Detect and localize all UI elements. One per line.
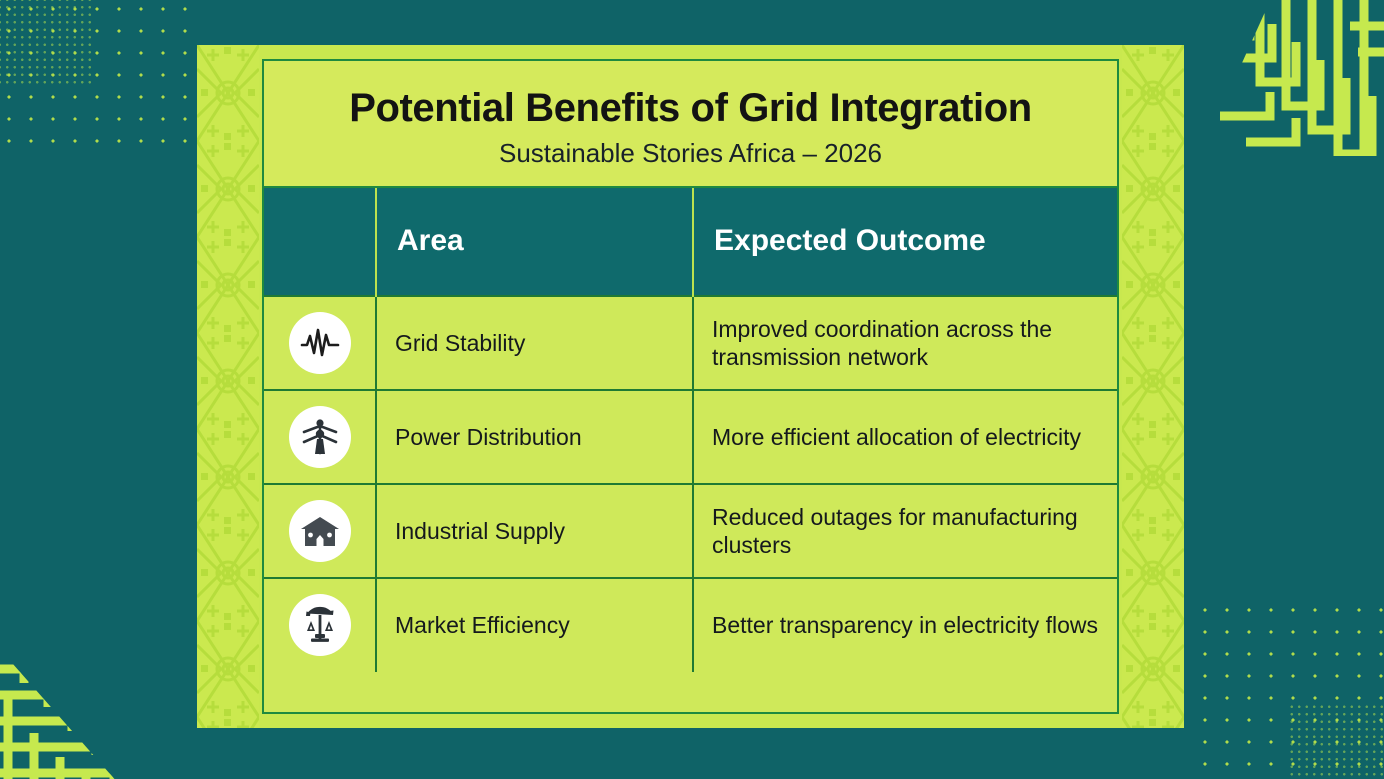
waveform-icon [289, 312, 351, 374]
maze-pattern-bottom-left [0, 603, 194, 779]
title-block: Potential Benefits of Grid Integration S… [264, 61, 1117, 188]
row-icon-cell [264, 296, 376, 390]
row-icon-cell [264, 484, 376, 578]
table-header-row: Area Expected Outcome [264, 188, 1117, 296]
content-card: Potential Benefits of Grid Integration S… [197, 45, 1184, 728]
row-outcome-cell: More efficient allocation of electricity [693, 390, 1117, 484]
table-body: Grid Stability Improved coordination acr… [264, 296, 1117, 672]
row-area-cell: Market Efficiency [376, 578, 693, 672]
dot-grid-pattern-top-left [0, 0, 204, 144]
dot-grid-dense-bottom-right [1288, 703, 1384, 779]
transmission-tower-icon [289, 406, 351, 468]
card-inner: Potential Benefits of Grid Integration S… [262, 59, 1119, 714]
maze-pattern-top-right [1200, 0, 1384, 156]
benefits-table: Area Expected Outcome Grid [264, 188, 1117, 672]
row-icon-cell [264, 390, 376, 484]
row-area-cell: Power Distribution [376, 390, 693, 484]
slide-canvas: Potential Benefits of Grid Integration S… [0, 0, 1384, 779]
row-area-cell: Industrial Supply [376, 484, 693, 578]
dot-grid-dense-top-left [0, 0, 94, 88]
page-subtitle: Sustainable Stories Africa – 2026 [264, 139, 1117, 168]
page-title: Potential Benefits of Grid Integration [264, 87, 1117, 129]
row-icon-cell [264, 578, 376, 672]
woven-pattern-right [1122, 45, 1184, 728]
balance-scales-icon [289, 594, 351, 656]
factory-icon [289, 500, 351, 562]
row-area-cell: Grid Stability [376, 296, 693, 390]
column-header-icon [264, 188, 376, 296]
row-outcome-cell: Reduced outages for manufacturing cluste… [693, 484, 1117, 578]
table-row: Grid Stability Improved coordination acr… [264, 296, 1117, 390]
woven-pattern-left [197, 45, 259, 728]
table-row: Power Distribution More efficient alloca… [264, 390, 1117, 484]
table-row: Market Efficiency Better transparency in… [264, 578, 1117, 672]
dot-grid-pattern-bottom-right [1190, 595, 1384, 779]
row-outcome-cell: Improved coordination across the transmi… [693, 296, 1117, 390]
table-row: Industrial Supply Reduced outages for ma… [264, 484, 1117, 578]
column-header-outcome: Expected Outcome [693, 188, 1117, 296]
column-header-area: Area [376, 188, 693, 296]
row-outcome-cell: Better transparency in electricity flows [693, 578, 1117, 672]
table-header: Area Expected Outcome [264, 188, 1117, 296]
